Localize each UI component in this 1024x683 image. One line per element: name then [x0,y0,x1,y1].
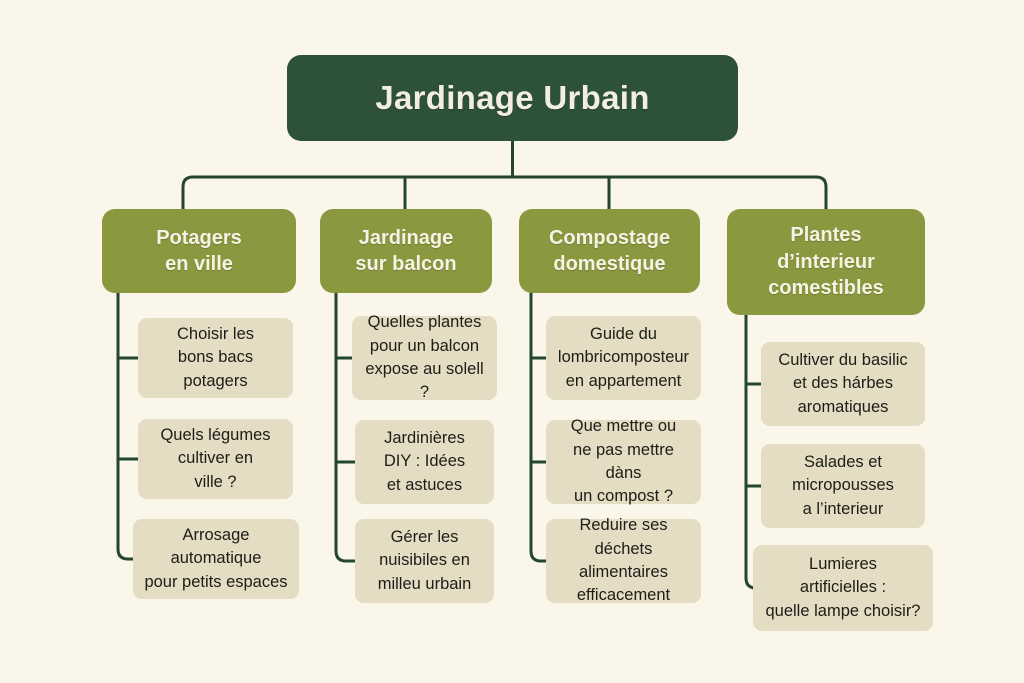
leaf-node[interactable]: Quels légumes cultiver en ville ? [138,419,293,499]
leaf-label: Choisir les bons bacs potagers [177,323,254,393]
leaf-label: Quelles plantes pour un balcon expose au… [360,311,489,405]
category-node-compostage-domestique[interactable]: Compostage domestique [519,209,700,293]
leaf-label: Que mettre ou ne pas mettre dàns un comp… [554,415,693,509]
category-label: Compostage domestique [549,225,670,278]
connector-bus-left [183,177,513,209]
category-node-potagers-en-ville[interactable]: Potagers en ville [102,209,296,293]
leaf-node[interactable]: Lumieres artificielles : quelle lampe ch… [753,545,933,631]
leaf-label: Arrosage automatique pour petits espaces [144,524,287,594]
category-label: Plantes d’interieur comestibles [768,222,884,301]
leaf-label: Guide du lombricomposteur en appartement [558,323,689,393]
connector-col1-spine [118,293,133,559]
leaf-label: Reduire ses déchets alimentaires efficac… [554,514,693,608]
leaf-label: Jardinières DIY : Idées et astuces [384,427,465,497]
leaf-node[interactable]: Guide du lombricomposteur en appartement [546,316,701,400]
leaf-node[interactable]: Quelles plantes pour un balcon expose au… [352,316,497,400]
leaf-label: Quels légumes cultiver en ville ? [160,424,270,494]
root-label: Jardinage Urbain [375,79,649,117]
leaf-label: Cultiver du basilic et des hárbes aromat… [778,349,907,419]
leaf-node[interactable]: Cultiver du basilic et des hárbes aromat… [761,342,925,426]
leaf-node[interactable]: Arrosage automatique pour petits espaces [133,519,299,599]
category-node-jardinage-sur-balcon[interactable]: Jardinage sur balcon [320,209,492,293]
leaf-node[interactable]: Jardinières DIY : Idées et astuces [355,420,494,504]
leaf-label: Salades et micropousses a l’interieur [792,451,894,521]
leaf-node[interactable]: Choisir les bons bacs potagers [138,318,293,398]
leaf-node[interactable]: Reduire ses déchets alimentaires efficac… [546,519,701,603]
connector-col3-spine [531,293,546,561]
category-label: Jardinage sur balcon [355,225,456,278]
category-node-plantes-dinterieur-comestibles[interactable]: Plantes d’interieur comestibles [727,209,925,315]
leaf-node[interactable]: Que mettre ou ne pas mettre dàns un comp… [546,420,701,504]
root-node[interactable]: Jardinage Urbain [287,55,738,141]
mindmap-canvas: Jardinage Urbain Potagers en ville Chois… [0,0,1024,683]
leaf-node[interactable]: Salades et micropousses a l’interieur [761,444,925,528]
connector-bus-right [513,177,827,209]
leaf-node[interactable]: Gérer les nuisibiles en milleu urbain [355,519,494,603]
category-label: Potagers en ville [156,225,242,278]
leaf-label: Gérer les nuisibiles en milleu urbain [378,526,472,596]
leaf-label: Lumieres artificielles : quelle lampe ch… [765,553,920,623]
